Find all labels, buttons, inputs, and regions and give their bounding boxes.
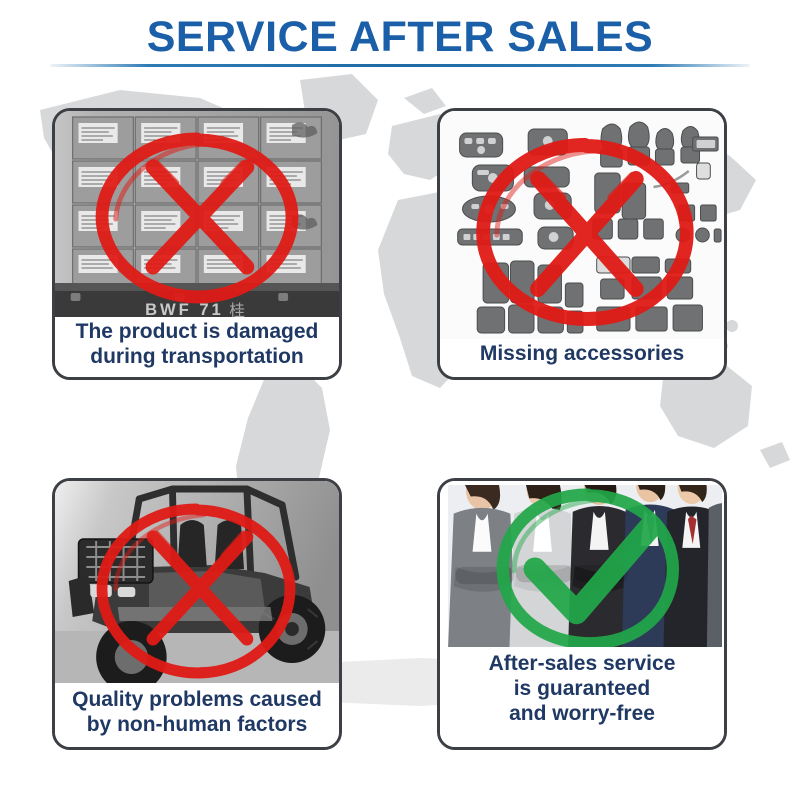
card-quality-problems: Quality problems caused by non-human fac… bbox=[52, 478, 342, 750]
scattered-control-panels-and-connectors-photo bbox=[440, 111, 724, 343]
card-product-damaged: BWF 71 桂 The product is damaged during t… bbox=[52, 108, 342, 380]
card-damage-caption: The product is damaged during transporta… bbox=[55, 317, 339, 377]
card-damage-media: BWF 71 桂 bbox=[55, 111, 339, 323]
card-quality-media bbox=[55, 481, 339, 689]
pallet-of-stacked-cartons-photo: BWF 71 桂 bbox=[55, 111, 339, 323]
card-guarantee-caption: After-sales service is guaranteed and wo… bbox=[440, 647, 724, 747]
card-missing-caption: Missing accessories bbox=[440, 339, 724, 377]
utv-side-by-side-vehicle-photo bbox=[55, 481, 339, 689]
card-guarantee-media bbox=[440, 481, 724, 653]
title-underline-rule bbox=[50, 64, 750, 67]
card-quality-caption: Quality problems caused by non-human fac… bbox=[55, 683, 339, 747]
business-team-in-suits-photo bbox=[448, 485, 722, 649]
page-header: SERVICE AFTER SALES bbox=[0, 0, 800, 72]
page-title: SERVICE AFTER SALES bbox=[0, 14, 800, 60]
card-missing-accessories: Missing accessories bbox=[437, 108, 727, 380]
card-after-sales-guarantee: After-sales service is guaranteed and wo… bbox=[437, 478, 727, 750]
card-missing-media bbox=[440, 111, 724, 343]
